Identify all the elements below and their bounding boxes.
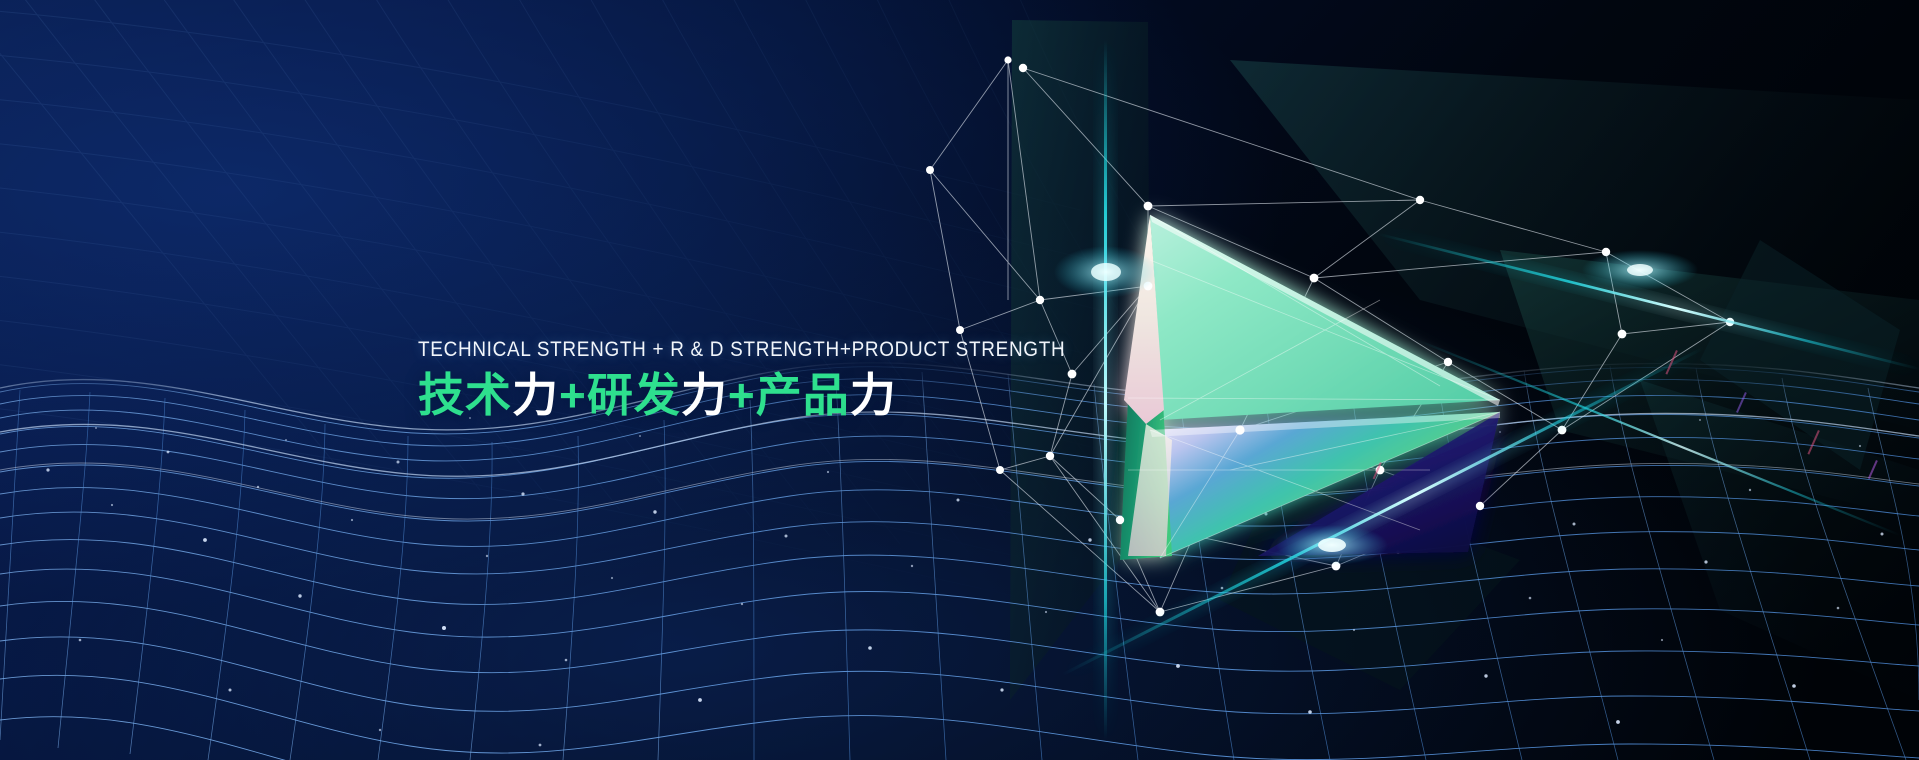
headline-cn-seg-3: 研发 [587, 368, 681, 422]
headline-cn-seg-0: 技术 [418, 368, 512, 422]
headline-cn-seg-6: 产品 [756, 368, 850, 422]
headline-cn-seg-5: + [728, 369, 756, 421]
headline-cn-seg-2: + [559, 369, 587, 421]
headline-cn-seg-4: 力 [681, 368, 728, 422]
headline-block: TECHNICAL STRENGTH + R & D STRENGTH+PROD… [418, 338, 1058, 421]
hero-banner: TECHNICAL STRENGTH + R & D STRENGTH+PROD… [0, 0, 1919, 760]
headline-chinese: 技术力+研发力+产品力 [418, 370, 1058, 422]
headline-english: TECHNICAL STRENGTH + R & D STRENGTH+PROD… [418, 338, 981, 362]
headline-cn-seg-7: 力 [850, 368, 897, 422]
headline-cn-seg-1: 力 [512, 368, 559, 422]
